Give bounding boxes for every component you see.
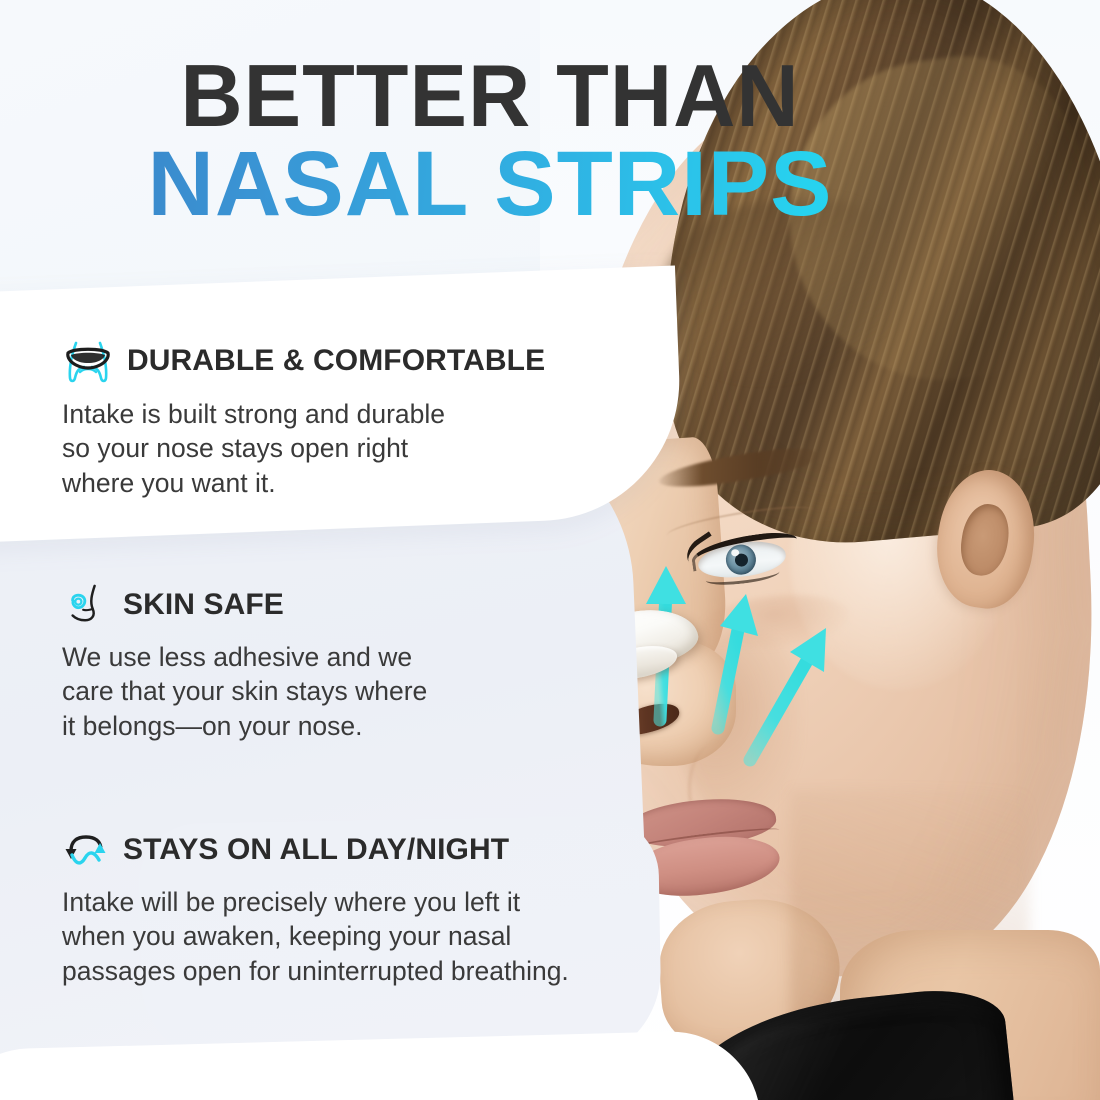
airflow-arrow-3: [750, 628, 826, 760]
feature-body-line: where you want it.: [62, 466, 545, 500]
headline-line-2: NASAL STRIPS: [0, 138, 980, 232]
feature-body-line: passages open for uninterrupted breathin…: [62, 954, 569, 988]
day-night-cycle-loop-icon: [62, 828, 110, 872]
feature-body-line: when you awaken, keeping your nasal: [62, 919, 569, 953]
feature-body: Intake will be precisely where you left …: [62, 885, 569, 988]
feature-block-durable-comfortable: DURABLE & COMFORTABLE Intake is built st…: [62, 338, 545, 500]
feature-title: STAYS ON ALL DAY/NIGHT: [123, 833, 509, 867]
nose-profile-with-adhesive-patch-icon: [62, 583, 110, 627]
feature-body: Intake is built strong and durable so yo…: [62, 397, 545, 500]
feature-body-line: Intake will be precisely where you left …: [62, 885, 569, 919]
feature-block-stays-on-all-day-night: STAYS ON ALL DAY/NIGHT Intake will be pr…: [62, 828, 569, 988]
ad-creative-canvas: BETTER THAN NASAL STRIPS DURABLE & COMFO…: [0, 0, 1100, 1100]
feature-title: DURABLE & COMFORTABLE: [127, 344, 545, 378]
feature-body-line: it belongs—on your nose.: [62, 709, 427, 743]
airflow-arrow-2: [718, 594, 758, 728]
feature-body-line: so your nose stays open right: [62, 431, 545, 465]
feature-body-line: We use less adhesive and we: [62, 640, 427, 674]
feature-body-line: Intake is built strong and durable: [62, 397, 545, 431]
headline-line-1: BETTER THAN: [10, 54, 970, 138]
feature-body: We use less adhesive and we care that yo…: [62, 640, 427, 743]
page-title: BETTER THAN NASAL STRIPS: [0, 54, 980, 232]
ear-inner: [957, 501, 1013, 579]
feature-title: SKIN SAFE: [123, 588, 284, 622]
feature-block-skin-safe: SKIN SAFE We use less adhesive and we ca…: [62, 583, 427, 743]
feature-heading-row: SKIN SAFE: [62, 583, 427, 627]
feature-heading-row: DURABLE & COMFORTABLE: [62, 338, 545, 384]
nose-with-dilator-strip-icon: [62, 338, 114, 384]
feature-body-line: care that your skin stays where: [62, 674, 427, 708]
feature-heading-row: STAYS ON ALL DAY/NIGHT: [62, 828, 569, 872]
